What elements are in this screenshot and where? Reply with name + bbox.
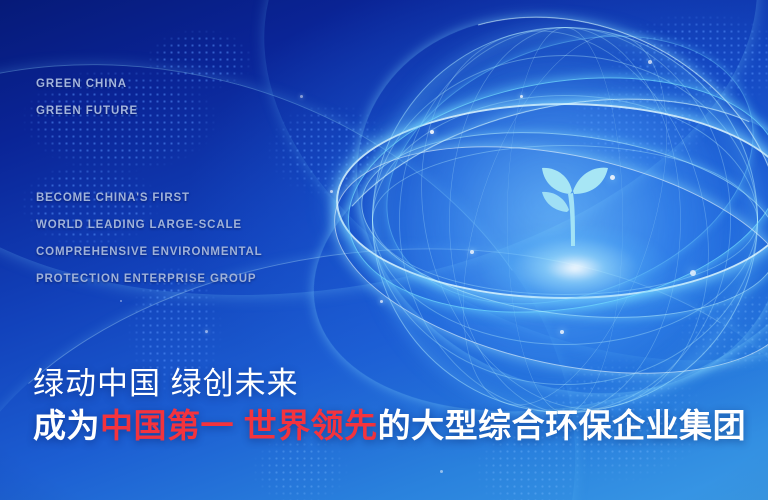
globe-latitude xyxy=(372,145,758,295)
headline-prefix: 成为 xyxy=(33,407,100,444)
headline-highlight: 中国第一 世界领先 xyxy=(100,407,378,444)
particle-dot xyxy=(380,300,383,303)
promotional-banner: GREEN CHINA GREEN FUTURE BECOME CHINA'S … xyxy=(0,0,768,500)
globe-sphere xyxy=(372,27,758,413)
claim-line-3: COMPREHENSIVE ENVIRONMENTAL xyxy=(36,239,263,266)
light-arc-icon xyxy=(0,0,768,350)
particle-dot xyxy=(648,60,652,64)
core-light-burst xyxy=(480,223,670,313)
claim-text-block: BECOME CHINA'S FIRST WORLD LEADING LARGE… xyxy=(36,185,263,293)
kicker-text-block: GREEN CHINA GREEN FUTURE xyxy=(36,71,138,125)
kicker-line-1: GREEN CHINA xyxy=(36,71,138,98)
orbit-ring xyxy=(351,110,768,340)
headline-primary: 绿动中国 绿创未来 xyxy=(33,364,746,404)
orbit-ring xyxy=(349,0,768,352)
sprout-emblem-icon xyxy=(530,160,610,246)
globe-meridian xyxy=(507,27,623,413)
orbit-ring xyxy=(331,48,768,341)
orbit-ring xyxy=(336,103,768,299)
globe-meridian xyxy=(399,27,731,413)
globe-latitude xyxy=(372,55,758,385)
particle-dot xyxy=(300,95,303,98)
claim-line-1: BECOME CHINA'S FIRST xyxy=(36,185,263,212)
particle-dot xyxy=(610,175,615,180)
particle-dot xyxy=(430,130,434,134)
headline-suffix: 的大型综合环保企业集团 xyxy=(378,407,747,444)
particle-dot xyxy=(330,190,333,193)
particle-dot xyxy=(120,300,122,302)
kicker-line-2: GREEN FUTURE xyxy=(36,98,138,125)
headline-block: 绿动中国 绿创未来 成为中国第一 世界领先的大型综合环保企业集团 xyxy=(33,364,746,448)
particle-dot xyxy=(205,330,208,333)
globe-meridian xyxy=(449,27,681,413)
globe-glow xyxy=(365,20,765,420)
headline-secondary: 成为中国第一 世界领先的大型综合环保企业集团 xyxy=(33,404,746,448)
particle-dot xyxy=(690,270,696,276)
claim-line-2: WORLD LEADING LARGE-SCALE xyxy=(36,212,263,239)
particle-dot xyxy=(440,470,443,473)
particle-dot xyxy=(470,250,474,254)
claim-line-4: PROTECTION ENTERPRISE GROUP xyxy=(36,266,263,293)
particle-dot xyxy=(560,330,564,334)
particle-dot xyxy=(520,95,523,98)
